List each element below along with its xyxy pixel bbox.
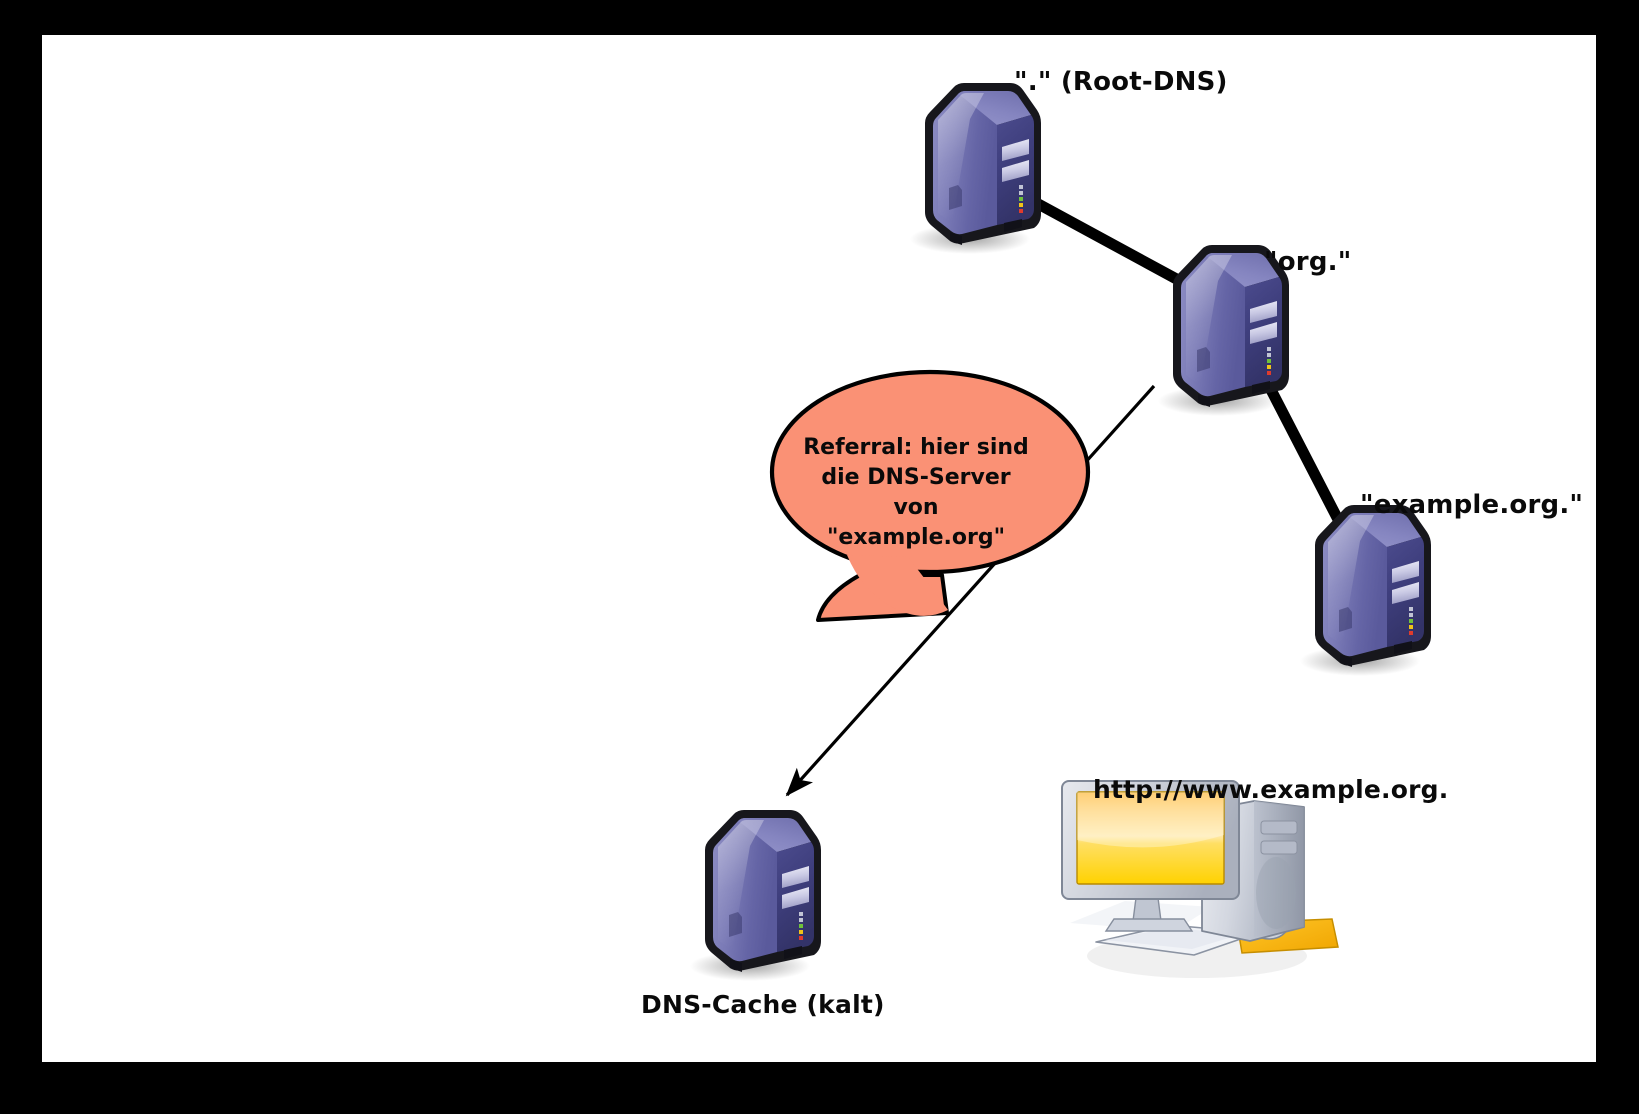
image-frame: "." (Root-DNS) "org." "example.org." DNS… [0,0,1639,1114]
label-dns-cache: DNS-Cache (kalt) [641,990,885,1019]
label-example-org: "example.org." [1360,490,1583,520]
node-example-org-server[interactable] [1300,505,1431,676]
label-client-url: http://www.example.org. [1093,775,1448,804]
referral-speech-bubble [772,372,1088,620]
node-root-dns-server[interactable] [910,83,1041,254]
diagram-svg [42,35,1596,1062]
label-org: "org." [1264,247,1351,277]
label-root-dns: "." (Root-DNS) [1014,67,1228,97]
node-dns-cache-server[interactable] [690,810,821,981]
node-client-computer[interactable] [1062,781,1338,978]
diagram-canvas: "." (Root-DNS) "org." "example.org." DNS… [42,35,1596,1062]
